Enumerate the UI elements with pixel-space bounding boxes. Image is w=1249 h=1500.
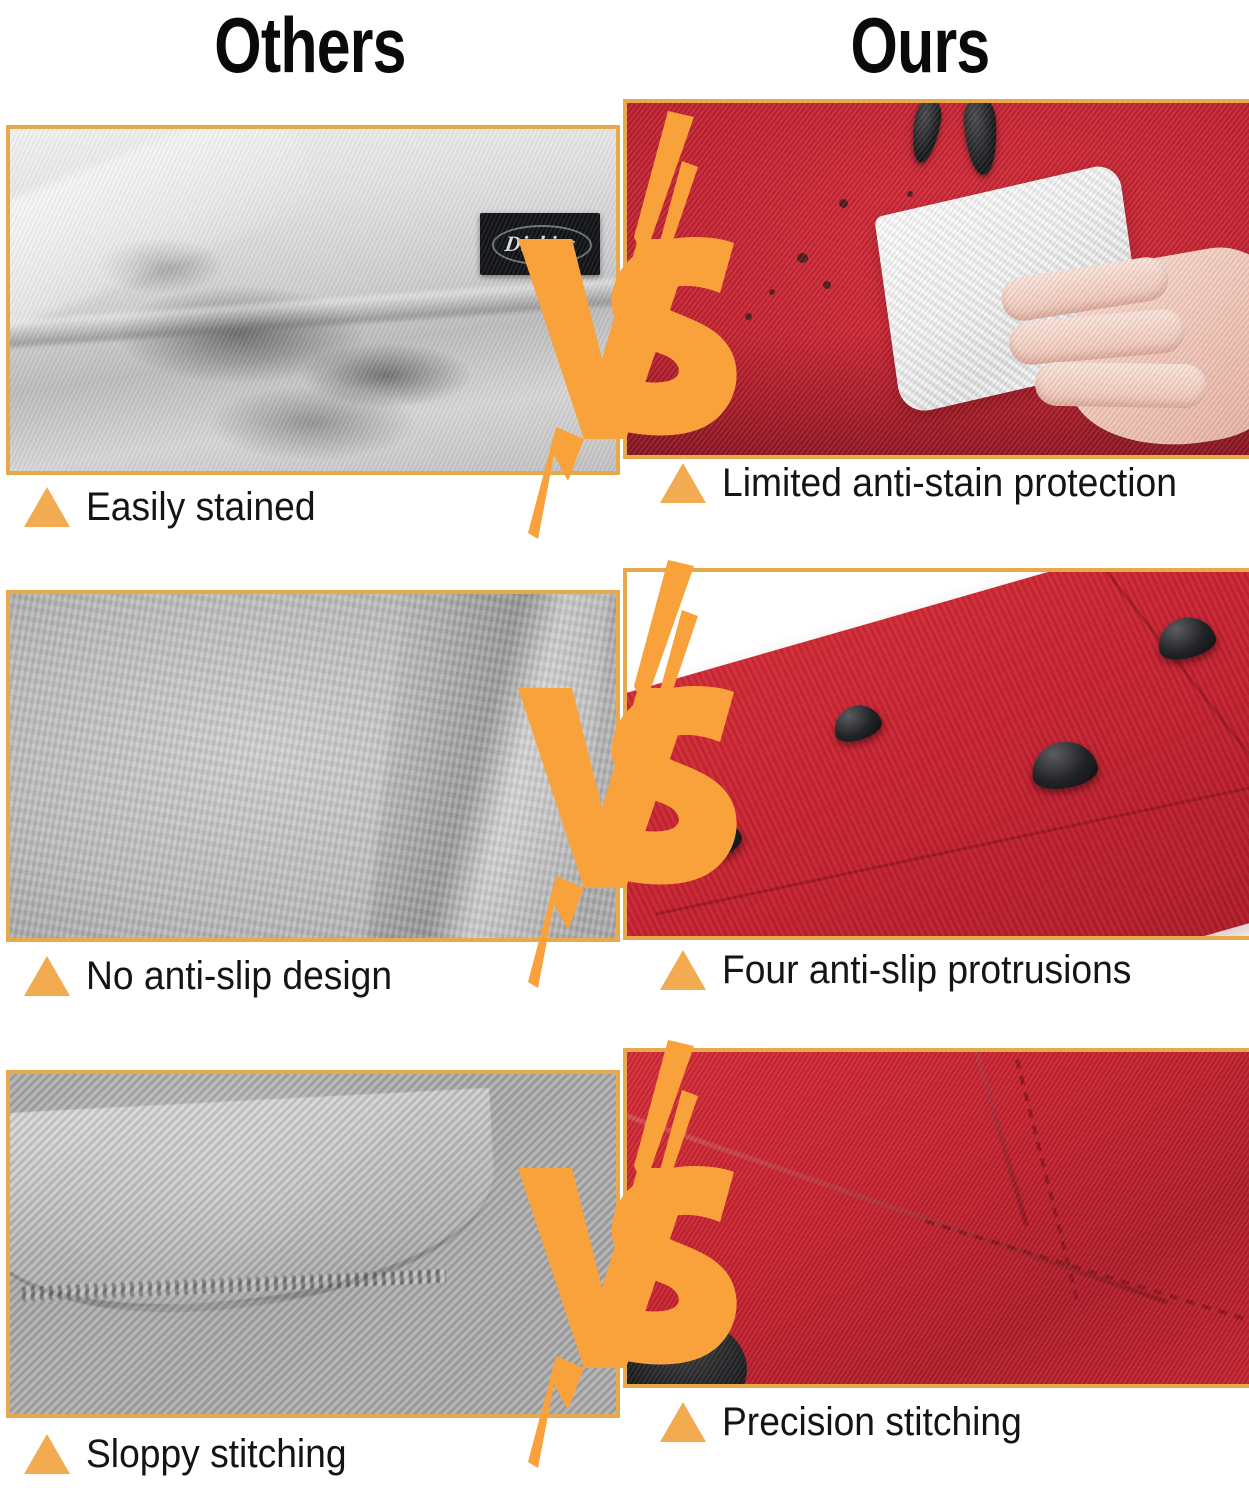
triangle-bullet-icon [24,1434,70,1474]
caption-ours-stain: Limited anti-stain protection [660,461,1211,505]
brand-label-patch: Dickies [480,213,600,275]
stain-speck [745,313,752,320]
uneven-stitch-line [22,1269,446,1301]
image-red-precision-stitch [627,1052,1249,1384]
image-grey-stained-fabric: Dickies [10,129,616,471]
caption-others-antislip: No anti-slip design [24,954,415,998]
black-clip-icon [908,99,945,165]
image-red-corner-protrusions [627,572,1249,936]
header-others: Others [131,2,490,88]
red-fabric-sheet [623,568,1249,940]
seam-line [1070,568,1249,794]
comparison-header: Others Ours [0,0,1249,100]
caption-ours-antislip: Four anti-slip protrusions [660,948,1162,992]
stain-speck [769,289,775,295]
caption-others-stain: Easily stained [24,485,333,529]
stain-speck [839,199,848,208]
image-plain-grey-fabric [10,594,616,938]
stain-speck [877,235,884,242]
photo-panel-others-antislip [6,590,620,942]
fabric-crease [365,590,613,942]
seam-line [623,1110,1168,1304]
hand-graphic [995,215,1249,455]
caption-text: Four anti-slip protrusions [722,948,1131,992]
hand-finger [1007,307,1186,366]
image-grey-sloppy-seam [10,1074,616,1414]
caption-text: Sloppy stitching [86,1432,347,1476]
seam-line [933,1048,1028,1226]
stitch-line [1015,1059,1080,1305]
hand-finger [1035,362,1208,409]
black-hardware-corner [623,1314,747,1388]
stitch-line [925,1219,1249,1326]
photo-panel-others-stitching [6,1070,620,1418]
fabric-fold [6,276,620,349]
stain-speck [907,191,913,197]
caption-ours-stitching: Precision stitching [660,1400,1044,1444]
photo-panel-ours-stitching [623,1048,1249,1388]
hand-palm [1050,236,1249,459]
stain-speck [823,281,831,289]
caption-text: No anti-slip design [86,954,392,998]
image-hand-wiping-red-fabric [627,103,1249,455]
fabric-shadow [627,335,1249,455]
hand-finger [999,254,1172,324]
stain-speck [797,253,808,263]
caption-others-stitching: Sloppy stitching [24,1432,366,1476]
tissue-wipe [874,161,1146,416]
caption-text: Limited anti-stain protection [722,461,1177,505]
seam-line [656,765,1249,915]
photo-panel-ours-stain [623,99,1249,459]
brand-oval-outline [492,225,592,265]
header-ours: Ours [741,2,1100,88]
brand-label-text: Dickies [503,231,577,257]
comparison-row-stain: Dickies [0,99,1249,559]
triangle-bullet-icon [660,950,706,990]
comparison-row-antislip: No anti-slip design Four anti-slip protr… [0,568,1249,1038]
fabric-rim [6,1088,500,1322]
triangle-bullet-icon [660,463,706,503]
black-clip-icon [962,99,999,176]
triangle-bullet-icon [660,1402,706,1442]
photo-panel-others-stain: Dickies [6,125,620,475]
triangle-bullet-icon [24,956,70,996]
comparison-row-stitching: Sloppy stitching Precision stitching [0,1048,1249,1498]
fabric-highlight [6,125,322,340]
caption-text: Precision stitching [722,1400,1022,1444]
caption-text: Easily stained [86,485,316,529]
photo-panel-ours-antislip [623,568,1249,940]
triangle-bullet-icon [24,487,70,527]
